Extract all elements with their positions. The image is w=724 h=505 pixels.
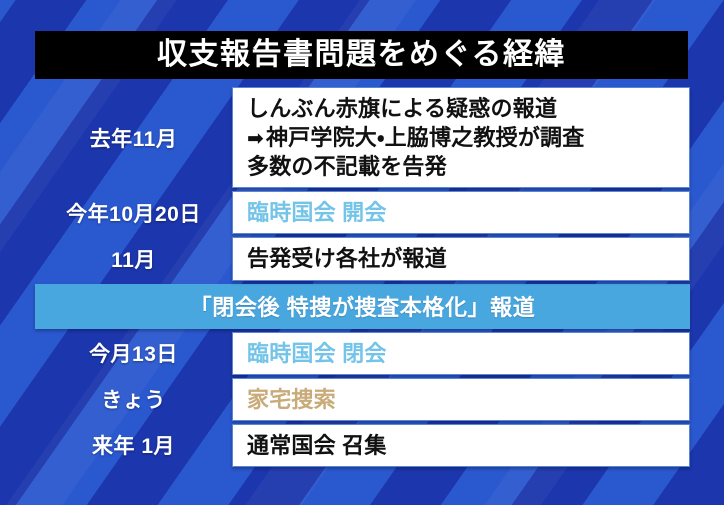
title-bar: 収支報告書問題をめぐる経緯 — [35, 31, 688, 79]
timeline-row-content-panel: 家宅捜索 — [232, 378, 690, 421]
timeline-row-content-panel: 告発受け各社が報道 — [232, 237, 690, 280]
timeline-row-text-line: 多数の不記載を告発 — [247, 152, 689, 181]
timeline-row-text-line: ➡神戸学院大・上脇博之教授が調査 — [247, 123, 689, 152]
timeline-row: 来年 1月通常国会 召集 — [35, 424, 690, 467]
timeline-row-date-label: 11月 — [35, 237, 232, 280]
timeline-row-content-panel: 臨時国会 閉会 — [232, 332, 690, 375]
timeline-row-text-line: 臨時国会 開会 — [247, 198, 689, 227]
arrow-right-icon: ➡ — [247, 128, 264, 150]
timeline-row-text-line: 臨時国会 閉会 — [247, 339, 689, 368]
timeline-row-content-panel: しんぶん赤旗による疑惑の報道➡神戸学院大・上脇博之教授が調査多数の不記載を告発 — [232, 87, 690, 188]
timeline-row-text: 神戸学院大・上脇博之教授が調査 — [266, 125, 584, 150]
timeline-table: 去年11月しんぶん赤旗による疑惑の報道➡神戸学院大・上脇博之教授が調査多数の不記… — [35, 87, 690, 470]
highlight-banner: 「閉会後 特捜が捜査本格化」報道 — [35, 284, 690, 329]
page-title: 収支報告書問題をめぐる経緯 — [157, 40, 566, 70]
timeline-row-text-line: 告発受け各社が報道 — [247, 244, 689, 273]
timeline-row: 今年10月20日臨時国会 開会 — [35, 191, 690, 234]
timeline-row-content-panel: 臨時国会 開会 — [232, 191, 690, 234]
timeline-row: 去年11月しんぶん赤旗による疑惑の報道➡神戸学院大・上脇博之教授が調査多数の不記… — [35, 87, 690, 188]
timeline-row-date-label: 去年11月 — [35, 87, 232, 188]
timeline-row: 11月告発受け各社が報道 — [35, 237, 690, 280]
timeline-row: きょう家宅捜索 — [35, 378, 690, 421]
infographic-root: 収支報告書問題をめぐる経緯 去年11月しんぶん赤旗による疑惑の報道➡神戸学院大・… — [0, 0, 724, 505]
timeline-row-date-label: 今月13日 — [35, 332, 232, 375]
timeline-row-content-panel: 通常国会 召集 — [232, 424, 690, 467]
timeline-row-text-line: しんぶん赤旗による疑惑の報道 — [247, 94, 689, 123]
timeline-row-text-line: 通常国会 召集 — [247, 431, 689, 460]
highlight-banner-text: 「閉会後 特捜が捜査本格化」報道 — [190, 290, 536, 322]
timeline-row: 今月13日臨時国会 閉会 — [35, 332, 690, 375]
timeline-banner-row: 「閉会後 特捜が捜査本格化」報道 — [35, 284, 690, 329]
timeline-row-date-label: きょう — [35, 378, 232, 421]
timeline-row-date-label: 来年 1月 — [35, 424, 232, 467]
timeline-row-text-line: 家宅捜索 — [247, 385, 689, 414]
timeline-row-date-label: 今年10月20日 — [35, 191, 232, 234]
